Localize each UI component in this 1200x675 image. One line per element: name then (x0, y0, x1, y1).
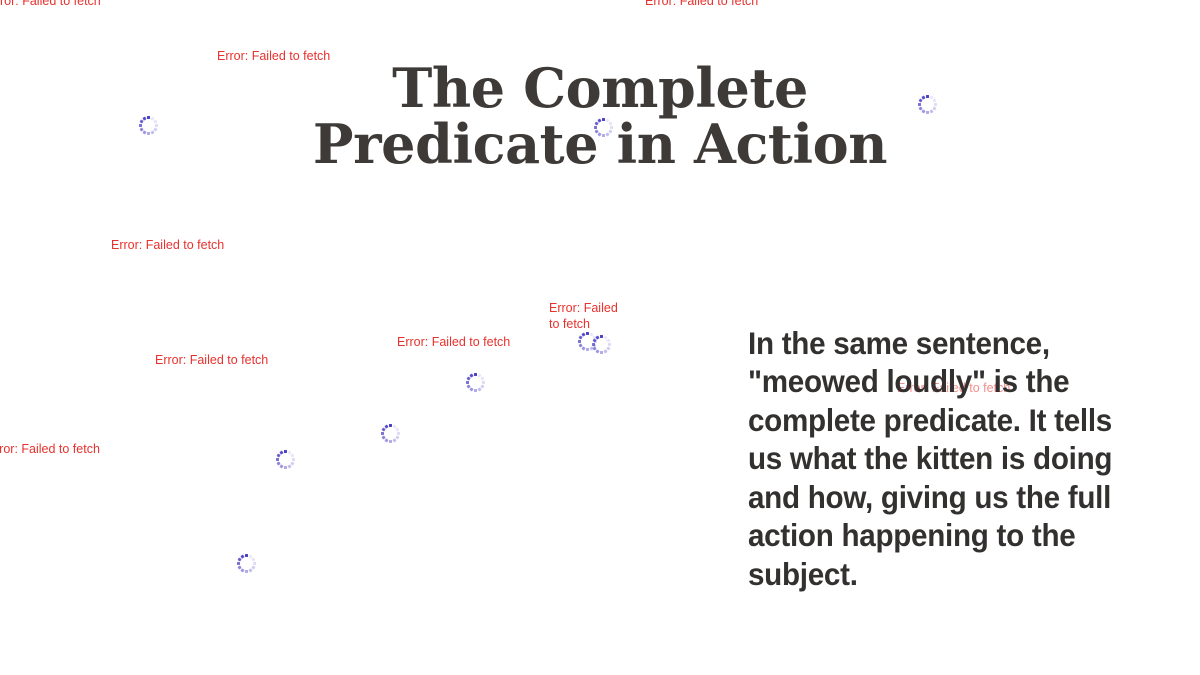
error-message: ror: Failed to fetch (0, 0, 101, 10)
error-message: Error: Failed to fetch (111, 238, 224, 254)
slide-canvas: ror: Failed to fetchError: Failed to fet… (0, 0, 1200, 675)
error-message: Error: Failed to fetch (397, 335, 510, 351)
error-message: Error: Failed to fetch (155, 353, 268, 369)
loading-spinner-icon (590, 333, 612, 355)
loading-spinner-icon (379, 422, 401, 444)
loading-spinner-icon (235, 552, 257, 574)
error-message: Error: Failed to fetch (549, 301, 627, 332)
body-paragraph: In the same sentence, "meowed loudly" is… (748, 324, 1116, 593)
loading-spinner-icon (274, 448, 296, 470)
loading-spinner-icon (137, 114, 159, 136)
error-message: rror: Failed to fetch (0, 442, 100, 458)
loading-spinner-icon (464, 371, 486, 393)
page-title: The Complete Predicate in Action (300, 60, 900, 172)
error-message: Error: Failed to fetch (645, 0, 758, 10)
loading-spinner-icon (916, 93, 938, 115)
